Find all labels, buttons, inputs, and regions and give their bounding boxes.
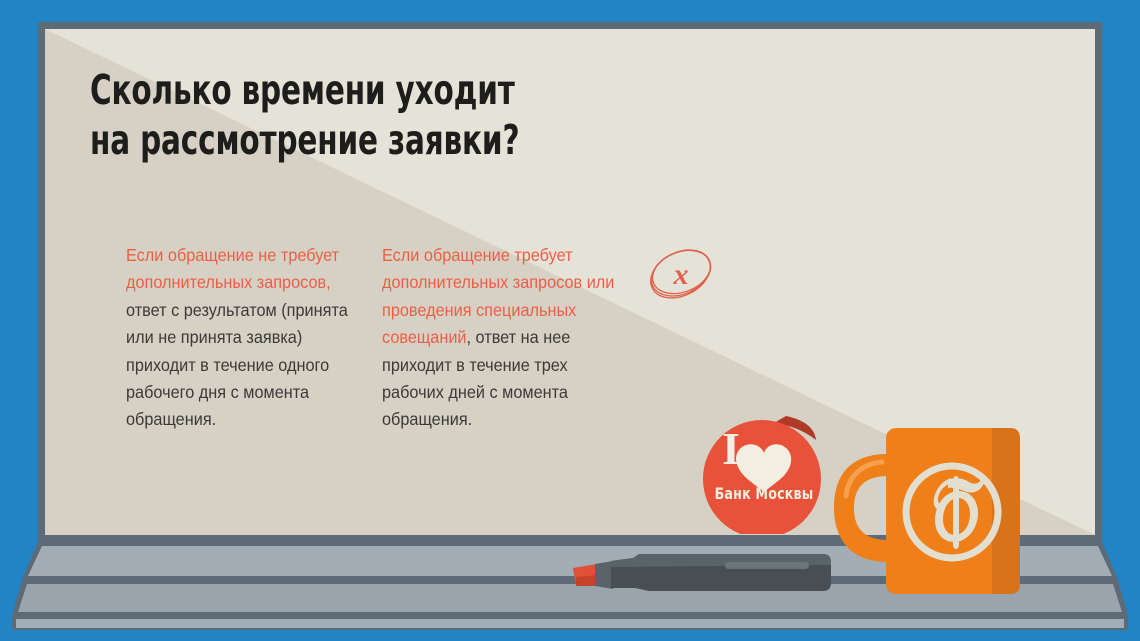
- column-1-body: ответ с результатом (принята или не прин…: [126, 300, 348, 430]
- sticker-label: Банк Москвы: [702, 484, 825, 503]
- x-doodle: x: [641, 237, 721, 314]
- branded-mug[interactable]: [832, 428, 1024, 605]
- branded-mug-icon: [832, 428, 1024, 600]
- column-1-highlight: Если обращение не требует дополнительных…: [126, 245, 339, 292]
- bank-sticker-icon: [694, 414, 834, 534]
- text-column-2: Если обращение требует дополнительных за…: [382, 242, 631, 434]
- text-column-1: Если обращение не требует дополнительных…: [126, 242, 360, 434]
- page-title: Сколько времени уходит на рассмотрение з…: [90, 65, 586, 165]
- marker-pen-icon: [573, 550, 835, 595]
- slide-canvas: Сколько времени уходит на рассмотрение з…: [0, 0, 1140, 641]
- x-doodle-letter: x: [673, 258, 689, 291]
- x-doodle-icon: x: [641, 237, 721, 309]
- bank-sticker[interactable]: I Банк Москвы: [694, 414, 834, 539]
- marker-pen[interactable]: [573, 550, 835, 600]
- sticker-letter-i: I: [722, 426, 740, 472]
